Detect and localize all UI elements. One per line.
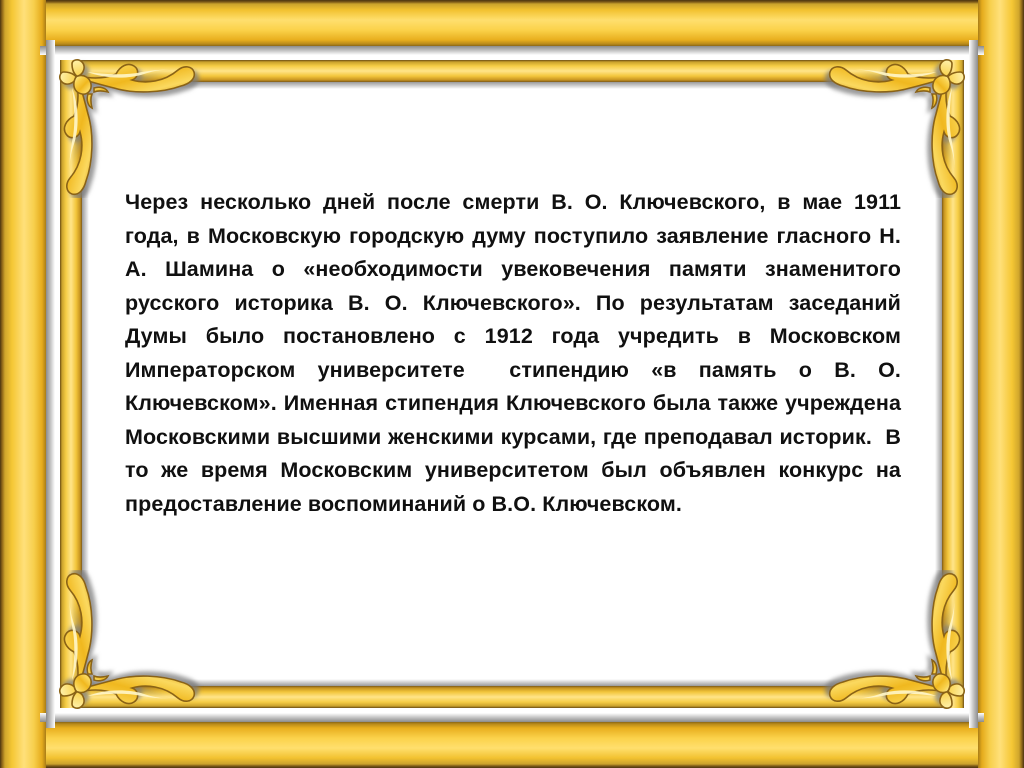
corner-ornament-top-left-icon — [58, 58, 208, 198]
frame-shadow-bottom — [40, 713, 984, 722]
slide-content: Через несколько дней после смерти В. О. … — [125, 186, 901, 521]
frame-band-bottom — [0, 722, 1024, 768]
frame-band-left — [0, 0, 46, 768]
corner-ornament-top-right-icon — [816, 58, 966, 198]
inner-band-shadow-right — [935, 66, 942, 702]
inner-band-shadow-top — [66, 82, 958, 89]
frame-shadow-top — [40, 46, 984, 55]
corner-ornament-bottom-left-icon — [58, 570, 208, 710]
presentation-slide: Через несколько дней после смерти В. О. … — [0, 0, 1024, 768]
inner-band-left — [60, 60, 82, 708]
frame-shadow-left — [46, 40, 55, 728]
corner-ornament-bottom-right-icon — [816, 570, 966, 710]
inner-band-top — [60, 60, 964, 82]
inner-band-shadow-left — [82, 66, 89, 702]
inner-band-right — [942, 60, 964, 708]
inner-band-shadow-bottom — [66, 679, 958, 686]
frame-band-top — [0, 0, 1024, 46]
inner-band-bottom — [60, 686, 964, 708]
frame-shadow-right — [969, 40, 978, 728]
frame-band-right — [978, 0, 1024, 768]
slide-body-text: Через несколько дней после смерти В. О. … — [125, 186, 901, 521]
